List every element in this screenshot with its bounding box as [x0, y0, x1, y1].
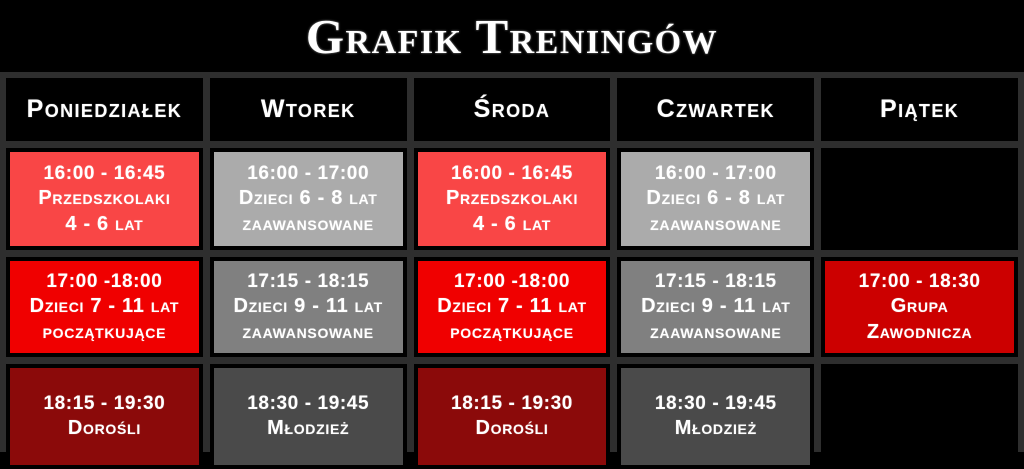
slot-description-line: zaawansowane [243, 212, 374, 238]
slot-time: 16:00 - 16:45 [451, 161, 573, 186]
schedule-cell-thursday-row-2: 17:15 - 18:15Dzieci 9 - 11 latzaawansowa… [617, 257, 814, 357]
schedule-cell-friday-row-1 [821, 148, 1018, 250]
slot-description-line: zaawansowane [650, 320, 781, 346]
schedule-cell-tuesday-row-1: 16:00 - 17:00Dzieci 6 - 8 latzaawansowan… [210, 148, 407, 250]
schedule-cell-monday-row-1: 16:00 - 16:45Przedszkolaki4 - 6 lat [6, 148, 203, 250]
slot-time: 18:30 - 19:45 [655, 391, 777, 416]
training-slot[interactable]: 16:00 - 16:45Przedszkolaki4 - 6 lat [418, 152, 607, 246]
schedule-cell-tuesday-row-2: 17:15 - 18:15Dzieci 9 - 11 latzaawansowa… [210, 257, 407, 357]
slot-time: 18:15 - 19:30 [43, 391, 165, 416]
slot-time: 17:00 - 18:30 [859, 269, 981, 294]
training-slot[interactable]: 17:15 - 18:15Dzieci 9 - 11 latzaawansowa… [621, 261, 810, 353]
training-slot[interactable]: 17:00 - 18:30GrupaZawodnicza [825, 261, 1014, 353]
slot-description-line: Dzieci 7 - 11 lat [437, 294, 586, 320]
page-title: Grafik Treningów [306, 12, 718, 61]
slot-time: 17:00 -18:00 [454, 269, 570, 294]
slot-description-line: Dzieci 9 - 11 lat [641, 294, 790, 320]
training-slot[interactable]: 17:00 -18:00Dzieci 7 - 11 latpoczątkując… [418, 261, 607, 353]
slot-description-line: zaawansowane [243, 320, 374, 346]
slot-description-line: Młodzież [675, 416, 757, 442]
slot-description-line: Przedszkolaki [446, 186, 578, 212]
slot-description-line: 4 - 6 lat [473, 212, 551, 238]
column-header-label: Środa [474, 95, 551, 124]
slot-description-line: początkujące [43, 320, 167, 346]
slot-time: 16:00 - 16:45 [43, 161, 165, 186]
column-header-monday: Poniedziałek [6, 78, 203, 141]
slot-description-line: Młodzież [267, 416, 349, 442]
slot-description-line: początkujące [450, 320, 574, 346]
slot-time: 18:15 - 19:30 [451, 391, 573, 416]
training-slot[interactable]: 17:15 - 18:15Dzieci 9 - 11 latzaawansowa… [214, 261, 403, 353]
slot-description-line: Dzieci 6 - 8 lat [646, 186, 785, 212]
slot-description-line: Dorośli [68, 416, 141, 442]
training-slot[interactable]: 16:00 - 16:45Przedszkolaki4 - 6 lat [10, 152, 199, 246]
training-slot[interactable]: 16:00 - 17:00Dzieci 6 - 8 latzaawansowan… [621, 152, 810, 246]
column-header-wednesday: Środa [414, 78, 611, 141]
slot-description-line: zaawansowane [650, 212, 781, 238]
schedule-cell-wednesday-row-2: 17:00 -18:00Dzieci 7 - 11 latpoczątkując… [414, 257, 611, 357]
column-header-label: Poniedziałek [27, 95, 182, 124]
schedule-cell-monday-row-2: 17:00 -18:00Dzieci 7 - 11 latpoczątkując… [6, 257, 203, 357]
training-slot[interactable]: 18:30 - 19:45Młodzież [621, 368, 810, 465]
column-header-label: Czwartek [657, 95, 775, 124]
training-slot[interactable]: 18:15 - 19:30Dorośli [10, 368, 199, 465]
training-slot[interactable]: 17:00 -18:00Dzieci 7 - 11 latpoczątkując… [10, 261, 199, 353]
slot-time: 18:30 - 19:45 [247, 391, 369, 416]
slot-time: 16:00 - 17:00 [247, 161, 369, 186]
slot-description-line: Grupa [891, 294, 949, 320]
slot-description-line: Zawodnicza [867, 320, 973, 346]
schedule-cell-wednesday-row-1: 16:00 - 16:45Przedszkolaki4 - 6 lat [414, 148, 611, 250]
schedule-cell-tuesday-row-3: 18:30 - 19:45Młodzież [210, 364, 407, 469]
slot-description-line: Dzieci 6 - 8 lat [239, 186, 378, 212]
training-slot[interactable]: 18:15 - 19:30Dorośli [418, 368, 607, 465]
slot-description-line: Przedszkolaki [38, 186, 170, 212]
slot-time: 17:15 - 18:15 [247, 269, 369, 294]
slot-description-line: 4 - 6 lat [65, 212, 143, 238]
training-slot[interactable]: 16:00 - 17:00Dzieci 6 - 8 latzaawansowan… [214, 152, 403, 246]
training-slot[interactable]: 18:30 - 19:45Młodzież [214, 368, 403, 465]
slot-description-line: Dzieci 9 - 11 lat [233, 294, 382, 320]
column-header-friday: Piątek [821, 78, 1018, 141]
schedule-cell-friday-row-2: 17:00 - 18:30GrupaZawodnicza [821, 257, 1018, 357]
slot-time: 17:15 - 18:15 [655, 269, 777, 294]
slot-description-line: Dorośli [475, 416, 548, 442]
schedule-cell-thursday-row-1: 16:00 - 17:00Dzieci 6 - 8 latzaawansowan… [617, 148, 814, 250]
schedule-grid: PoniedziałekWtorekŚrodaCzwartekPiątek16:… [0, 72, 1024, 452]
column-header-tuesday: Wtorek [210, 78, 407, 141]
schedule-cell-thursday-row-3: 18:30 - 19:45Młodzież [617, 364, 814, 469]
slot-description-line: Dzieci 7 - 11 lat [30, 294, 179, 320]
schedule-cell-monday-row-3: 18:15 - 19:30Dorośli [6, 364, 203, 469]
title-bar: Grafik Treningów [0, 0, 1024, 72]
schedule-cell-wednesday-row-3: 18:15 - 19:30Dorośli [414, 364, 611, 469]
slot-time: 16:00 - 17:00 [655, 161, 777, 186]
column-header-label: Wtorek [261, 95, 356, 124]
slot-time: 17:00 -18:00 [46, 269, 162, 294]
schedule-cell-friday-row-3 [821, 364, 1018, 469]
column-header-label: Piątek [880, 95, 959, 124]
column-header-thursday: Czwartek [617, 78, 814, 141]
